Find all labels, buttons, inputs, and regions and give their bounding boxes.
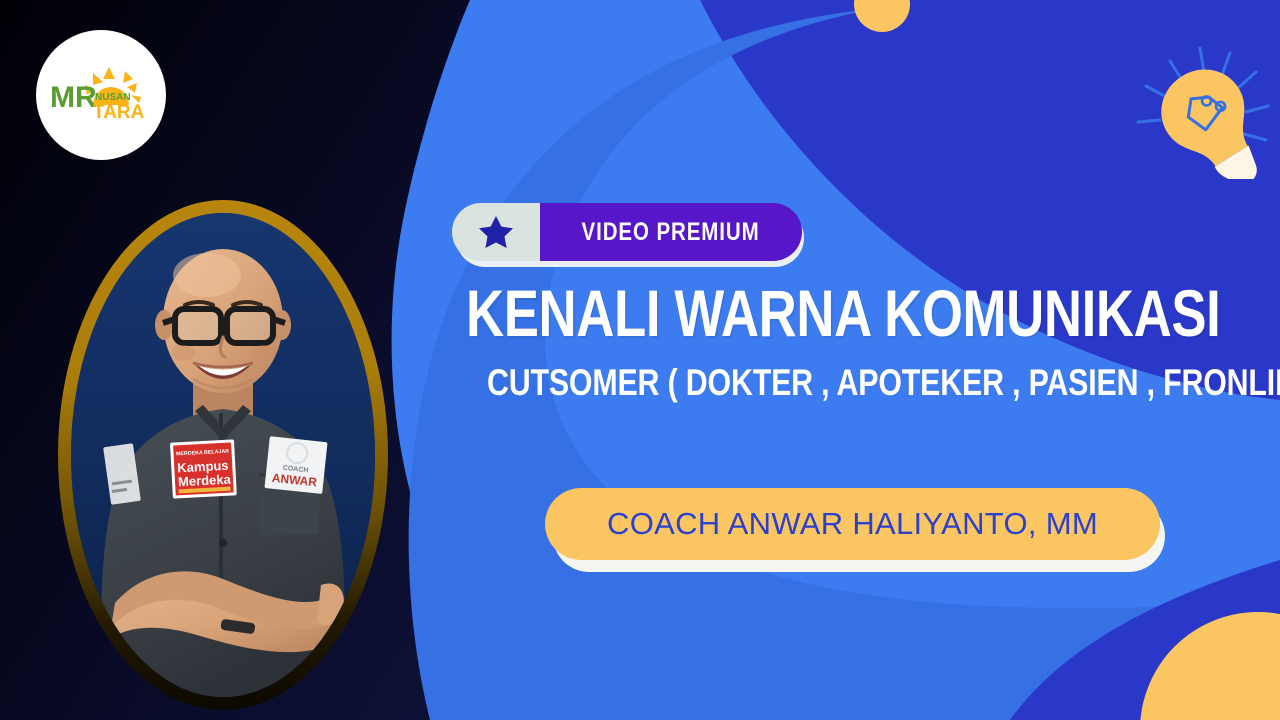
star-icon xyxy=(478,214,514,250)
speaker-name-button[interactable]: COACH ANWAR HALIYANTO, MM xyxy=(545,488,1165,573)
patch-line-3: Merdeka xyxy=(178,472,232,490)
logo-text-mr: MR xyxy=(50,81,97,114)
badge-label: VIDEO PREMIUM xyxy=(582,218,760,247)
badge-icon-panel xyxy=(452,203,540,261)
portrait-photo: MERDEKA BELAJAR Kampus Merdeka COACH ANW… xyxy=(71,213,375,697)
badge-label-panel: VIDEO PREMIUM xyxy=(540,203,802,261)
slide-canvas: MR NUSAN TARA xyxy=(0,0,1280,720)
logo-text-tara: TARA xyxy=(93,102,145,123)
page-title: KENALI WARNA KOMUNIKASI xyxy=(466,282,1098,345)
lightbulb-icon xyxy=(1122,34,1272,179)
page-subtitle: CUTSOMER ( DOKTER , APOTEKER , PASIEN , … xyxy=(487,364,1192,401)
mr-nusantara-logo-icon: MR NUSAN TARA xyxy=(49,65,153,125)
coach-anwar-portrait-illustration: MERDEKA BELAJAR Kampus Merdeka COACH ANW… xyxy=(71,213,375,697)
brand-logo: MR NUSAN TARA xyxy=(36,30,166,160)
video-premium-badge[interactable]: VIDEO PREMIUM xyxy=(452,203,804,267)
portrait-frame: MERDEKA BELAJAR Kampus Merdeka COACH ANW… xyxy=(58,200,388,710)
speaker-name-label: COACH ANWAR HALIYANTO, MM xyxy=(607,506,1098,542)
